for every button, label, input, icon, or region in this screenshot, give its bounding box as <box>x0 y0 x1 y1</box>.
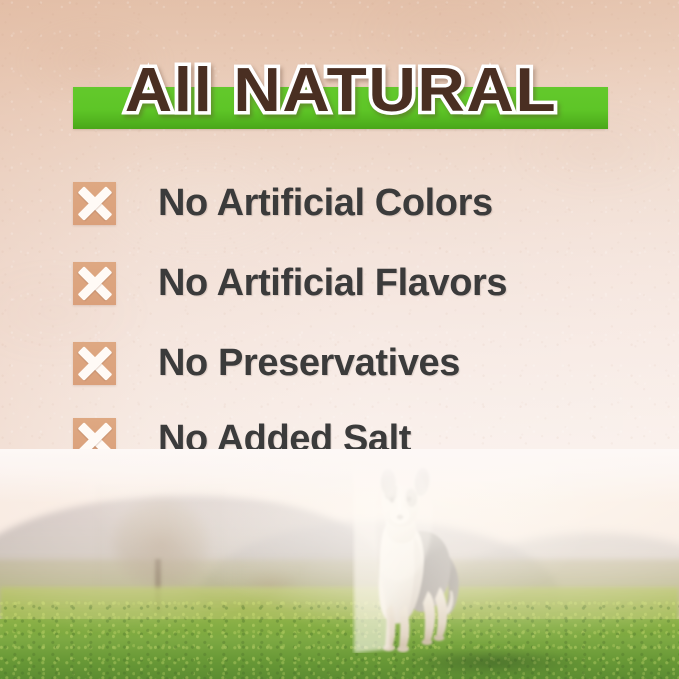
list-item: No Artificial Colors <box>73 180 493 226</box>
meadow-photo <box>0 449 679 679</box>
feature-label: No Preservatives <box>158 344 460 382</box>
x-mark-icon <box>73 182 116 225</box>
dog-figure <box>352 463 468 653</box>
list-item: No Artificial Flavors <box>73 260 507 306</box>
x-mark-icon <box>73 342 116 385</box>
feature-label: No Artificial Flavors <box>158 264 507 302</box>
feature-label: No Artificial Colors <box>158 184 493 222</box>
all-natural-feature-panel: All NATURAL No Artificial Colors No Arti… <box>0 0 679 679</box>
header-badge: All NATURAL <box>73 49 608 133</box>
x-mark-icon <box>73 262 116 305</box>
headline-wrapper: All NATURAL <box>73 49 608 133</box>
page-title: All NATURAL <box>124 60 556 122</box>
list-item: No Preservatives <box>73 340 460 386</box>
